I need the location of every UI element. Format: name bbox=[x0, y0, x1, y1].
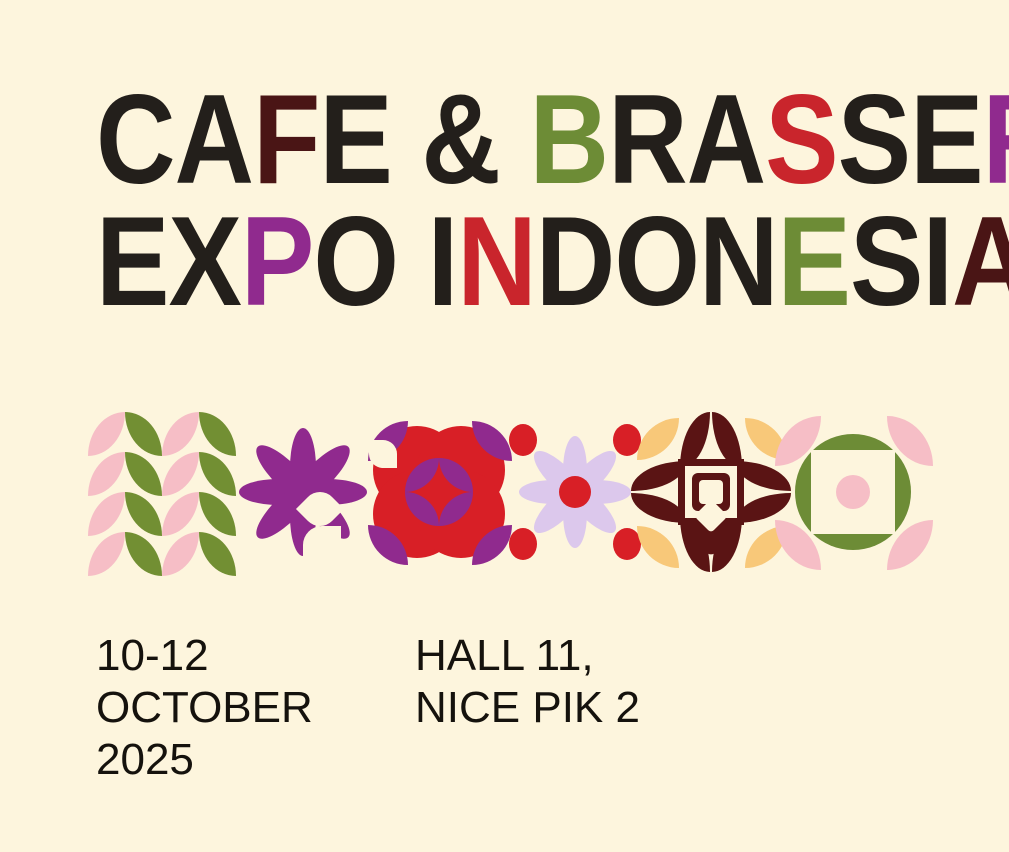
event-venue: HALL 11, NICE PIK 2 bbox=[415, 630, 640, 734]
pink-center-dot bbox=[836, 475, 870, 509]
motif-maroon-cross-tan-corners-icon bbox=[641, 412, 781, 572]
tan-corner-leaf bbox=[637, 526, 679, 568]
leaf-shape bbox=[199, 532, 236, 576]
red-corner-dot bbox=[509, 424, 537, 456]
red-center-dot bbox=[559, 476, 591, 508]
title-line-expo-indonesia: EXPO INDONESIA bbox=[96, 200, 1009, 323]
star-void-b bbox=[303, 564, 341, 602]
leaf-shape bbox=[162, 492, 199, 536]
leaf-shape bbox=[199, 452, 236, 496]
leaf-shape bbox=[162, 532, 199, 576]
leaf-shape bbox=[88, 492, 125, 536]
venue-line-1: HALL 11, bbox=[415, 630, 640, 682]
leaf-shape bbox=[125, 492, 162, 536]
dates-line-2: OCTOBER bbox=[96, 682, 313, 734]
center-star-void-b bbox=[369, 440, 397, 468]
title-segment-6: SI bbox=[850, 189, 952, 332]
leaf-shape bbox=[88, 452, 125, 496]
title-line-cafe-brasserie: CAFE & BRASSERIE bbox=[96, 78, 1009, 201]
dates-line-3: 2025 bbox=[96, 734, 313, 786]
leaf-shape bbox=[88, 532, 125, 576]
title-segment-5: E bbox=[778, 189, 850, 332]
event-dates: 10-12 OCTOBER 2025 bbox=[96, 630, 313, 786]
leaf-shape bbox=[125, 532, 162, 576]
title-segment-0: EX bbox=[96, 189, 241, 332]
leaf-shape bbox=[125, 452, 162, 496]
tan-corner-leaf bbox=[637, 418, 679, 460]
motif-green-disc-star-cut-icon bbox=[783, 412, 923, 572]
poster-title: CAFE & BRASSERIE EXPO INDONESIA bbox=[96, 78, 1009, 304]
venue-line-2: NICE PIK 2 bbox=[415, 682, 640, 734]
motif-purple-eight-petal-flower-icon bbox=[239, 412, 367, 572]
motif-lavender-flower-red-dots-icon bbox=[511, 412, 639, 572]
decorative-motif-band bbox=[88, 412, 923, 572]
dates-line-1: 10-12 bbox=[96, 630, 313, 682]
leaf-shape bbox=[162, 452, 199, 496]
star8-void-group bbox=[699, 480, 723, 504]
leaf-shape bbox=[162, 412, 199, 456]
title-segment-4: DON bbox=[536, 189, 778, 332]
leaf-shape bbox=[199, 492, 236, 536]
poster-canvas: CAFE & BRASSERIE EXPO INDONESIA 10-12 OC… bbox=[0, 0, 1009, 852]
title-segment-2: O I bbox=[313, 189, 457, 332]
motif-red-circle-square-medallion-icon bbox=[369, 412, 509, 572]
leaf-shape bbox=[199, 412, 236, 456]
motif-woven-leaf-grid-icon bbox=[88, 412, 236, 572]
title-segment-3: N bbox=[457, 189, 536, 332]
red-corner-dot bbox=[509, 528, 537, 560]
title-segment-1: P bbox=[241, 189, 313, 332]
leaf-shape bbox=[88, 412, 125, 456]
red-corner-dot bbox=[613, 424, 641, 456]
leaf-shape bbox=[125, 412, 162, 456]
star-void-a bbox=[303, 526, 341, 564]
title-segment-7: A bbox=[952, 189, 1009, 332]
